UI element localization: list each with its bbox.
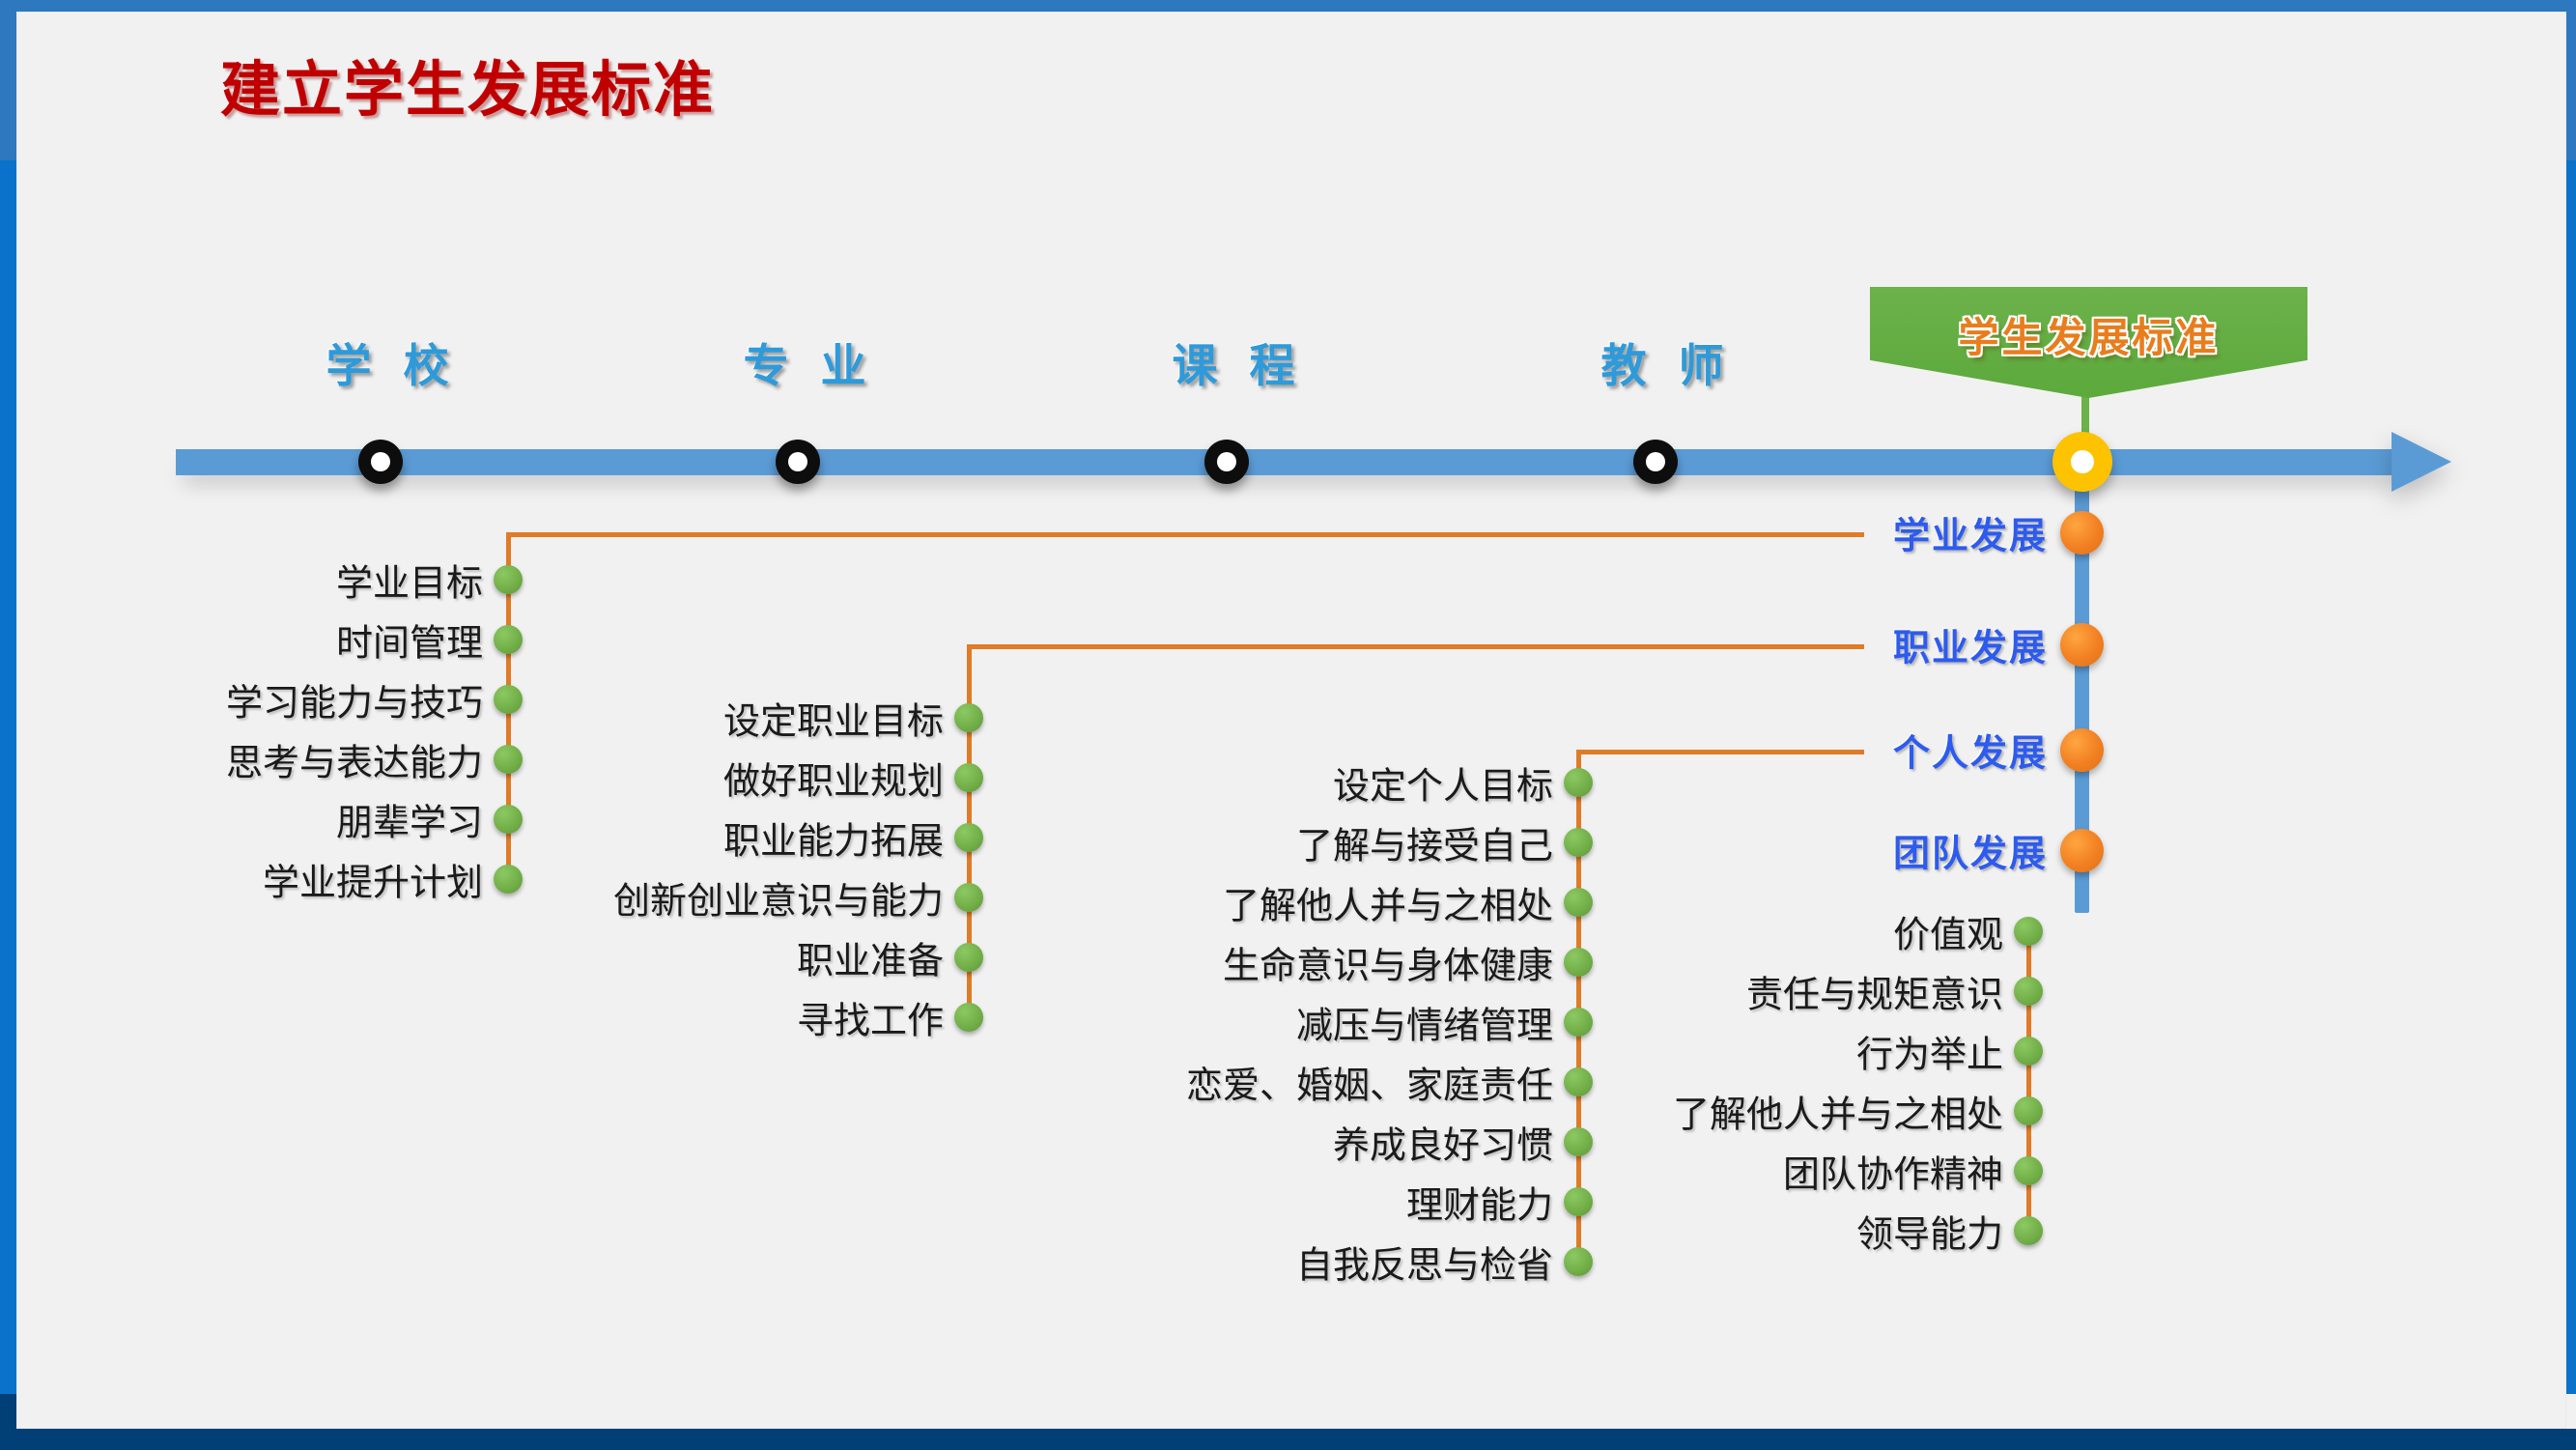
frame-right-top-border [2566,0,2576,160]
frame-left-top-border [0,0,16,160]
list-item[interactable]: 了解他人并与之相处 [1673,1085,2003,1138]
category-label-0[interactable]: 学业发展 [1893,506,2048,559]
list-item[interactable]: 寻找工作 [797,991,944,1044]
timeline-node-3[interactable] [1633,440,1678,484]
list-item-dot[interactable] [1564,1008,1593,1037]
list-item-dot[interactable] [954,823,983,852]
category-label-3[interactable]: 团队发展 [1893,824,2048,877]
list-item-dot[interactable] [2014,1037,2043,1066]
list-item[interactable]: 价值观 [1893,905,2003,958]
category-dot-1[interactable] [2060,623,2104,667]
list-item-dot[interactable] [1564,1127,1593,1156]
list-item[interactable]: 时间管理 [336,613,483,667]
list-item-dot[interactable] [494,805,523,834]
banner-label: 学生发展标准 [1870,305,2307,364]
list-item[interactable]: 自我反思与检省 [1296,1236,1553,1289]
list-item-dot[interactable] [954,703,983,732]
list-item-dot[interactable] [494,685,523,714]
list-item[interactable]: 创新创业意识与能力 [613,871,944,924]
list-item-dot[interactable] [494,565,523,594]
frame-left-border [0,160,16,1394]
frame-right-border [2566,160,2576,1394]
list-item[interactable]: 理财能力 [1406,1176,1553,1229]
list-item-dot[interactable] [494,745,523,774]
timeline-node-0[interactable] [358,440,403,484]
list-item[interactable]: 学业提升计划 [263,853,483,906]
list-item-dot[interactable] [1564,1067,1593,1096]
list-item[interactable]: 团队协作精神 [1783,1145,2003,1198]
frame-bottom-border [0,1429,2576,1450]
category-dot-2[interactable] [2060,728,2104,772]
list-item[interactable]: 责任与规矩意识 [1746,965,2003,1018]
list-item[interactable]: 了解他人并与之相处 [1223,876,1553,929]
list-item-dot[interactable] [1564,948,1593,977]
list-item-dot[interactable] [1564,768,1593,797]
connector-horizontal-0 [506,532,1864,537]
list-item-dot[interactable] [2014,977,2043,1006]
list-item-dot[interactable] [1564,828,1593,857]
list-item-dot[interactable] [1564,1187,1593,1216]
timeline-label-2[interactable]: 课 程 [1172,328,1304,395]
list-item-dot[interactable] [954,763,983,792]
list-item[interactable]: 设定职业目标 [723,692,944,745]
list-item[interactable]: 养成良好习惯 [1333,1116,1553,1169]
page-title: 建立学生发展标准 [220,41,715,128]
list-item-dot[interactable] [1564,888,1593,917]
list-item-dot[interactable] [954,883,983,912]
list-item[interactable]: 职业能力拓展 [723,811,944,865]
list-item-dot[interactable] [2014,1096,2043,1125]
list-item[interactable]: 做好职业规划 [723,752,944,805]
list-item-dot[interactable] [494,625,523,654]
list-item-dot[interactable] [954,943,983,972]
list-item[interactable]: 设定个人目标 [1333,756,1553,810]
timeline-label-0[interactable]: 学 校 [326,328,458,395]
timeline-node-2[interactable] [1204,440,1249,484]
hub-marker-icon [2052,432,2112,492]
list-item[interactable]: 学业目标 [336,554,483,607]
list-item[interactable]: 生命意识与身体健康 [1223,936,1553,989]
list-item[interactable]: 朋辈学习 [336,793,483,846]
category-label-2[interactable]: 个人发展 [1893,724,2048,777]
list-item[interactable]: 学习能力与技巧 [226,673,483,726]
list-item[interactable]: 领导能力 [1856,1205,2003,1258]
list-item-dot[interactable] [2014,1216,2043,1245]
category-dot-3[interactable] [2060,829,2104,872]
connector-horizontal-1 [967,644,1864,649]
timeline-label-1[interactable]: 专 业 [743,328,875,395]
list-item-dot[interactable] [1564,1247,1593,1276]
list-item-dot[interactable] [954,1003,983,1032]
list-item-dot[interactable] [2014,917,2043,946]
list-item[interactable]: 职业准备 [797,931,944,984]
connector-horizontal-2 [1576,750,1864,754]
category-label-1[interactable]: 职业发展 [1893,618,2048,671]
timeline-label-3[interactable]: 教 师 [1600,328,1733,395]
arrow-right-icon [2392,432,2451,492]
category-dot-0[interactable] [2060,511,2104,554]
list-item[interactable]: 思考与表达能力 [226,733,483,786]
slide-canvas: 建立学生发展标准 学 校专 业课 程教 师 学生发展标准 学业发展职业发展个人发… [0,0,2576,1450]
frame-top-border [0,0,2576,12]
list-item-dot[interactable] [494,865,523,894]
list-item[interactable]: 了解与接受自己 [1296,816,1553,869]
list-item[interactable]: 恋爱、婚姻、家庭责任 [1186,1056,1553,1109]
list-item[interactable]: 减压与情绪管理 [1296,996,1553,1049]
list-item[interactable]: 行为举止 [1856,1025,2003,1078]
list-item-dot[interactable] [2014,1156,2043,1185]
timeline-node-1[interactable] [776,440,820,484]
